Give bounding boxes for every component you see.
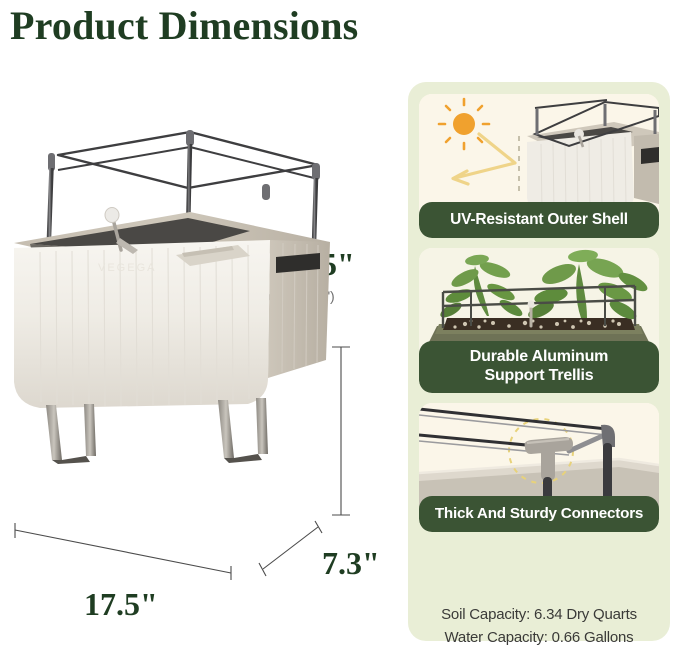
product-dimension-diagram: 10.5" (Trellis Height: 3.3") 17.5" 7.3"	[0, 60, 400, 659]
soil-capacity-text: Soil Capacity: 6.34 Dry Quarts	[408, 603, 670, 626]
feature-card-trellis[interactable]: Durable Aluminum Support Trellis	[419, 248, 659, 393]
feature-label-uv-shell: UV-Resistant Outer Shell	[419, 202, 659, 238]
feature-label-connectors: Thick And Sturdy Connectors	[419, 496, 659, 532]
feature-image-uv-shell	[419, 94, 659, 214]
water-capacity-text: Water Capacity: 0.66 Gallons	[408, 626, 670, 649]
feature-image-connectors	[419, 403, 659, 508]
feature-panel: UV-Resistant Outer Shell	[408, 82, 670, 641]
planter-body: VEGEGA	[14, 208, 330, 409]
feature-label-trellis-line2: Support Trellis	[484, 367, 593, 384]
planter-legs	[46, 398, 268, 464]
feature-card-list: UV-Resistant Outer Shell	[419, 94, 659, 542]
svg-text:VEGEGA: VEGEGA	[98, 262, 156, 274]
planter-illustration: VEGEGA	[0, 60, 400, 659]
feature-label-trellis: Durable Aluminum Support Trellis	[419, 341, 659, 393]
feature-card-connectors[interactable]: Thick And Sturdy Connectors	[419, 403, 659, 532]
feature-image-trellis	[419, 248, 659, 351]
feature-label-trellis-line1: Durable Aluminum	[470, 348, 608, 365]
page-title: Product Dimensions	[10, 2, 358, 49]
capacity-info: Soil Capacity: 6.34 Dry Quarts Water Cap…	[408, 603, 670, 650]
feature-card-uv-shell[interactable]: UV-Resistant Outer Shell	[419, 94, 659, 238]
